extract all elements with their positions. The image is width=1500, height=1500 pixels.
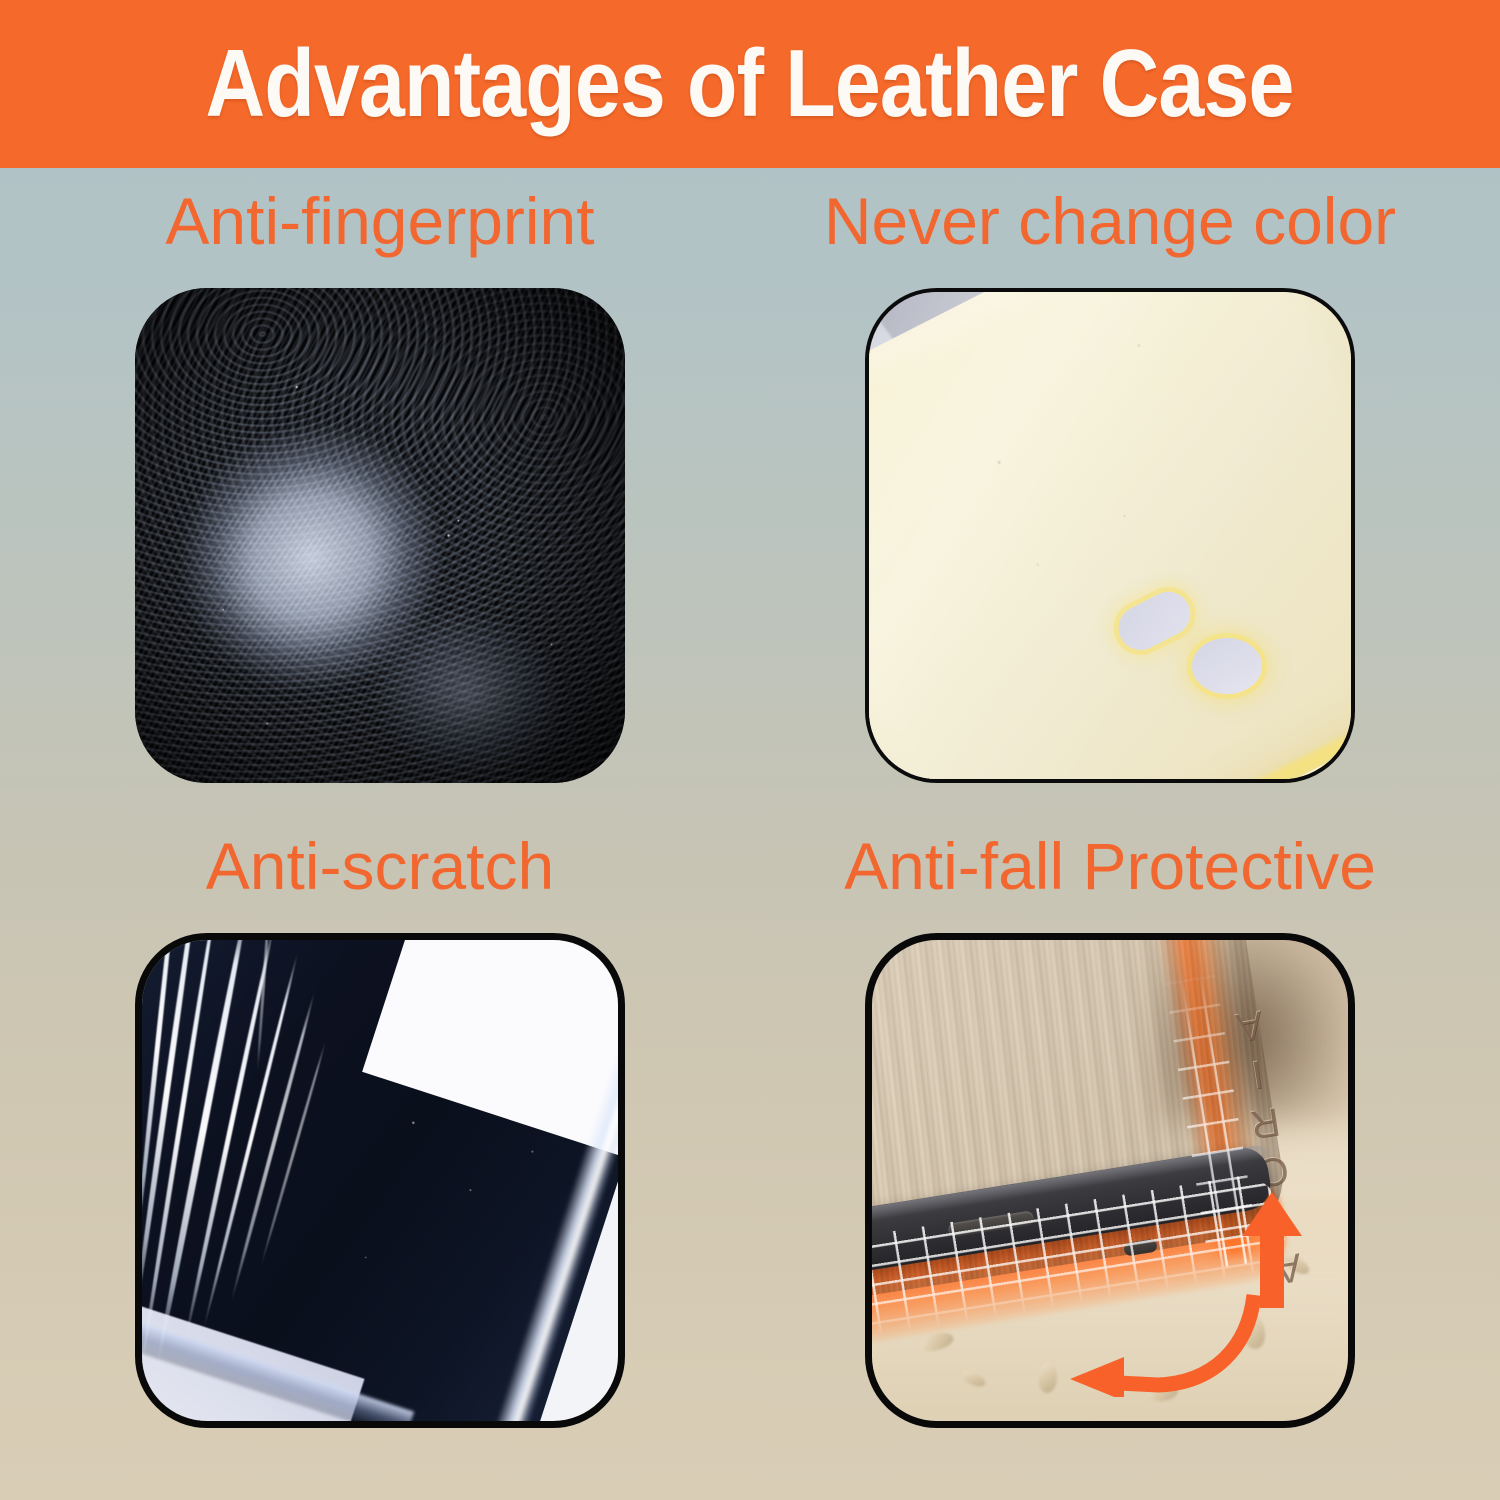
scratch-dust-specks <box>142 940 618 1421</box>
page-title: Advantages of Leather Case <box>206 36 1294 132</box>
feature-image-anti-fall-protective: AIORIA <box>865 933 1355 1428</box>
feature-image-never-change-color <box>865 288 1355 783</box>
header-banner: Advantages of Leather Case <box>0 0 1500 168</box>
feature-image-anti-fingerprint <box>135 288 625 783</box>
feature-never-change-color: Never change color <box>800 188 1420 828</box>
feature-label-anti-fall-protective: Anti-fall Protective <box>800 833 1420 899</box>
feature-grid: Anti-fingerprint Never change color <box>0 168 1500 1500</box>
feature-anti-fingerprint: Anti-fingerprint <box>70 188 690 828</box>
fingerprint-dust-specks <box>135 288 625 783</box>
yellowed-case-specks <box>869 292 1351 779</box>
impact-arrow-curved-left-icon <box>1062 1287 1262 1397</box>
product-infographic: Advantages of Leather Case Anti-fingerpr… <box>0 0 1500 1500</box>
feature-label-anti-fingerprint: Anti-fingerprint <box>70 188 690 254</box>
feature-anti-fall-protective: Anti-fall Protective <box>800 833 1420 1473</box>
feature-anti-scratch: Anti-scratch <box>70 833 690 1473</box>
feature-image-anti-scratch <box>135 933 625 1428</box>
feature-label-never-change-color: Never change color <box>800 188 1420 254</box>
feature-label-anti-scratch: Anti-scratch <box>70 833 690 899</box>
